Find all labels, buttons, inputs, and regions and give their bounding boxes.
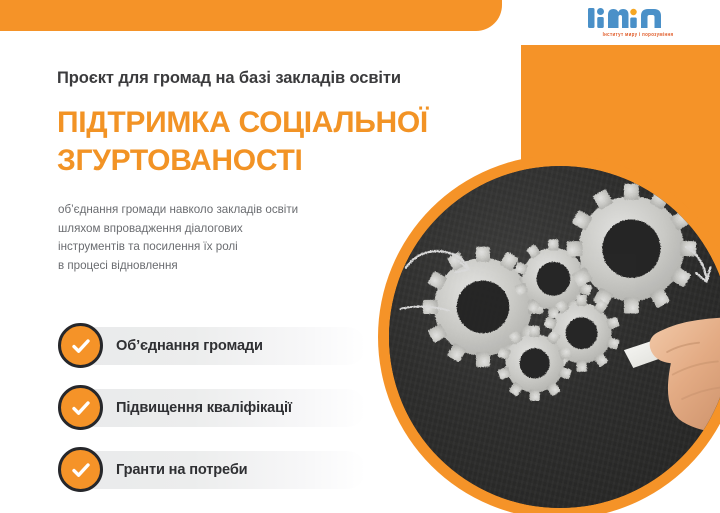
description-line-1: об’єднання громади навколо закладів осві…	[58, 201, 368, 220]
page-title: ПІДТРИМКА СОЦІАЛЬНОЇ ЗГУРТОВАНОСТІ	[57, 104, 507, 180]
header-orange-band	[0, 0, 502, 31]
list-item-label: Об’єднання громади	[116, 338, 263, 354]
list-item-label: Підвищення кваліфікації	[116, 400, 292, 416]
hero-photo	[389, 166, 720, 508]
description-line-3: інструментів та посилення їх ролі	[58, 238, 368, 257]
page-description: об’єднання громади навколо закладів осві…	[58, 201, 368, 275]
brand-logo: Інститут миру і порозуміння	[574, 4, 702, 44]
logo-tagline: Інститут миру і порозуміння	[574, 32, 702, 38]
hero-photo-circle	[378, 155, 720, 513]
check-glyph	[69, 458, 93, 482]
list-item: Гранти на потреби	[58, 447, 368, 492]
list-item: Підвищення кваліфікації	[58, 385, 368, 430]
list-item-label: Гранти на потреби	[116, 462, 248, 478]
list-item: Об’єднання громади	[58, 323, 368, 368]
description-line-4: в процесі відновлення	[58, 257, 368, 276]
check-glyph	[69, 396, 93, 420]
page-kicker: Проєкт для громад на базі закладів освіт…	[57, 69, 497, 88]
description-line-2: шляхом впровадження діалогових	[58, 220, 368, 239]
page-title-line-1: ПІДТРИМКА СОЦІАЛЬНОЇ	[57, 104, 507, 142]
chalk-gears-illustration	[389, 166, 720, 508]
poster-root: Інститут миру і порозуміння	[0, 0, 720, 513]
imin-logo-icon	[586, 4, 690, 30]
page-title-line-2: ЗГУРТОВАНОСТІ	[57, 142, 507, 180]
check-icon	[58, 385, 103, 430]
check-icon	[58, 323, 103, 368]
check-glyph	[69, 334, 93, 358]
hand-with-chalk	[624, 318, 720, 433]
benefits-checklist: Об’єднання громади Підвищення кваліфікац…	[58, 323, 368, 509]
check-icon	[58, 447, 103, 492]
